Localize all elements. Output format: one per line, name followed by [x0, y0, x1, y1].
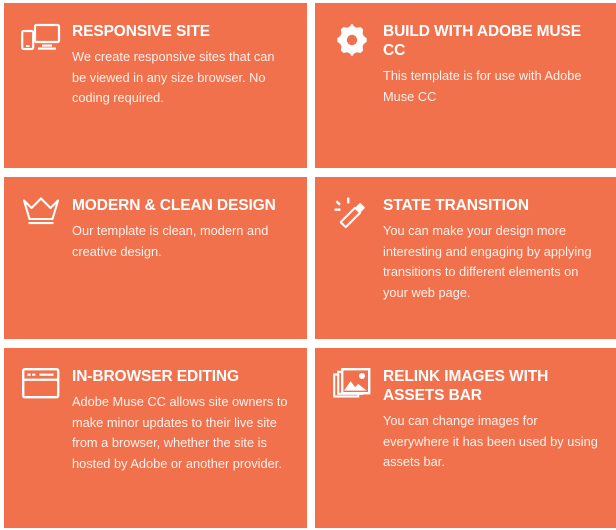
gear-icon [329, 23, 375, 63]
card-body: RESPONSIVE SITE We create responsive sit… [72, 21, 289, 109]
card-text: You can change images for everywhere it … [383, 411, 600, 473]
card-text: This template is for use with Adobe Muse… [383, 66, 600, 107]
crown-icon [18, 197, 64, 237]
card-title: RESPONSIVE SITE [72, 22, 289, 41]
card-body: RELINK IMAGES WITH ASSETS BAR You can ch… [383, 366, 600, 473]
card-text: Adobe Muse CC allows site owners to make… [72, 392, 289, 474]
magic-wand-icon [329, 197, 375, 237]
card-body: STATE TRANSITION You can make your desig… [383, 195, 600, 303]
feature-card-responsive-site[interactable]: RESPONSIVE SITE We create responsive sit… [4, 3, 307, 168]
card-title: IN-BROWSER EDITING [72, 367, 289, 386]
card-title: BUILD WITH ADOBE MUSE CC [383, 22, 600, 60]
card-text: Our template is clean, modern and creati… [72, 221, 289, 262]
browser-window-icon [18, 368, 64, 408]
card-body: IN-BROWSER EDITING Adobe Muse CC allows … [72, 366, 289, 474]
feature-card-in-browser-editing[interactable]: IN-BROWSER EDITING Adobe Muse CC allows … [4, 348, 307, 528]
card-body: BUILD WITH ADOBE MUSE CC This template i… [383, 21, 600, 107]
card-title: RELINK IMAGES WITH ASSETS BAR [383, 367, 600, 405]
feature-card-state-transition[interactable]: STATE TRANSITION You can make your desig… [315, 177, 616, 339]
feature-card-relink-images-with-assets-bar[interactable]: RELINK IMAGES WITH ASSETS BAR You can ch… [315, 348, 616, 528]
feature-card-build-with-adobe-muse-cc[interactable]: BUILD WITH ADOBE MUSE CC This template i… [315, 3, 616, 168]
card-text: You can make your design more interestin… [383, 221, 600, 303]
feature-grid: RESPONSIVE SITE We create responsive sit… [0, 0, 616, 528]
card-title: STATE TRANSITION [383, 196, 600, 215]
card-title: MODERN & CLEAN DESIGN [72, 196, 289, 215]
responsive-devices-icon [18, 23, 64, 63]
card-body: MODERN & CLEAN DESIGN Our template is cl… [72, 195, 289, 262]
image-stack-icon [329, 368, 375, 408]
feature-card-modern-clean-design[interactable]: MODERN & CLEAN DESIGN Our template is cl… [4, 177, 307, 339]
card-text: We create responsive sites that can be v… [72, 47, 289, 109]
